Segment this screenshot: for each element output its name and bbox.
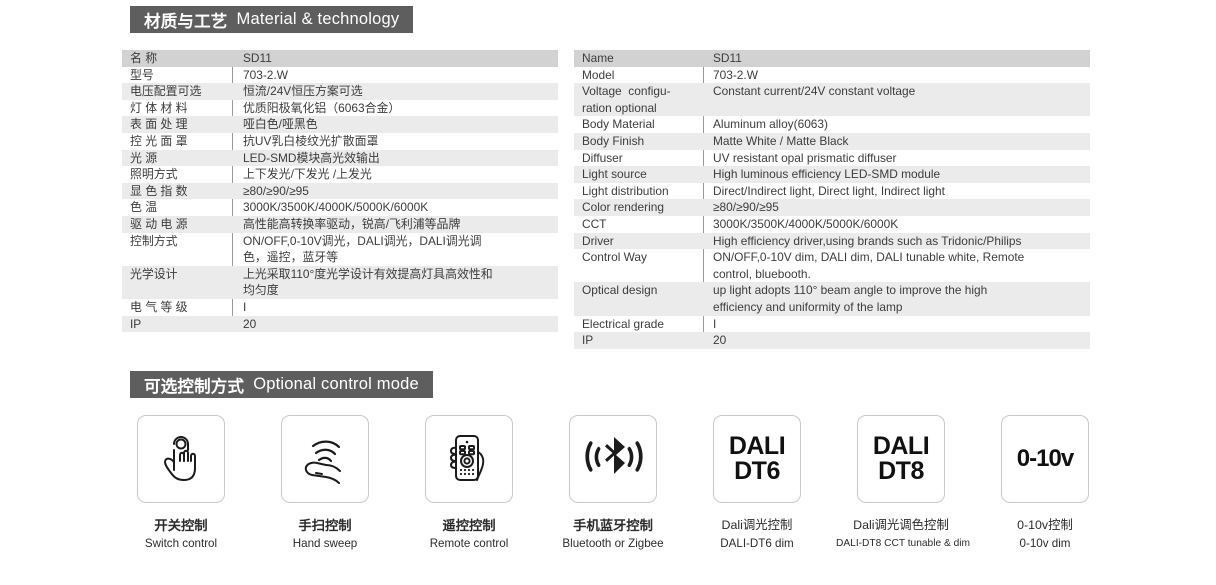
table-row: 显 色 指 数≥80/≥90/≥95 (122, 183, 558, 200)
table-row-value: High luminous efficiency LED-SMD module (703, 166, 1090, 183)
dali-label-line2: DT8 (873, 459, 929, 485)
table-row: 表 面 处 理哑白色/哑黑色 (122, 116, 558, 133)
dali-dt8-icon: DALIDT8 (857, 415, 945, 503)
bluetooth-signal-icon (569, 415, 657, 503)
control-mode-label-cn: Dali调光控制 (692, 516, 822, 535)
table-row-label: Light source (574, 166, 703, 183)
table-row-value: Direct/Indirect light, Direct light, Ind… (703, 183, 1090, 200)
table-row-value: I (232, 299, 558, 316)
table-row-label: 照明方式 (122, 166, 232, 183)
control-mode-card-text: 手扫控制Hand sweep (260, 516, 390, 553)
table-row: 照明方式上下发光/下发光 /上发光 (122, 166, 558, 183)
spec-table-chinese: 名 称SD11型号703-2.W电压配置可选恒流/24V恒压方案可选灯 体 材 … (122, 50, 558, 332)
table-row: 色 温3000K/3500K/4000K/5000K/6000K (122, 199, 558, 216)
section-header-material-cn: 材质与工艺 (144, 8, 228, 32)
table-row-label: Optical design (574, 282, 703, 299)
control-mode-label-cn: Dali调光调色控制 (836, 516, 966, 535)
table-row-value: 20 (703, 332, 1090, 349)
table-row: Light sourceHigh luminous efficiency LED… (574, 166, 1090, 183)
control-mode-card-dali-dt6[interactable]: DALIDT6Dali调光控制DALI-DT6 dim (706, 415, 808, 553)
control-mode-label-en: Switch control (116, 535, 246, 553)
control-mode-label-en: DALI-DT6 dim (692, 535, 822, 553)
table-row-value: 3000K/3500K/4000K/5000K/6000K (703, 216, 1090, 233)
table-row-value: Matte White / Matte Black (703, 133, 1090, 150)
table-row: Optical designup light adopts 110° beam … (574, 282, 1090, 315)
table-row-label: 电 气 等 级 (122, 299, 232, 316)
control-mode-card-text: 手机蓝牙控制Bluetooth or Zigbee (548, 516, 678, 553)
zero-ten-volt-icon: 0-10v (1001, 415, 1089, 503)
table-row-value: SD11 (232, 50, 558, 67)
table-row-value: UV resistant opal prismatic diffuser (703, 150, 1090, 167)
table-row-label: 控 光 面 罩 (122, 133, 232, 150)
control-mode-card-text: Dali调光调色控制DALI-DT8 CCT tunable & dim (836, 516, 966, 553)
control-mode-label-cn: 开关控制 (116, 516, 246, 535)
zero-ten-volt-label: 0-10v (1017, 445, 1073, 473)
table-row: Body FinishMatte White / Matte Black (574, 133, 1090, 150)
table-row: CCT3000K/3500K/4000K/5000K/6000K (574, 216, 1090, 233)
dali-label-line1: DALI (873, 434, 929, 460)
table-row-value: 上光采取110°度光学设计有效提高灯具高效性和 均匀度 (232, 266, 558, 299)
table-row-value: 抗UV乳白棱纹光扩散面罩 (232, 133, 558, 150)
table-row-label: 型号 (122, 67, 232, 84)
table-row: NameSD11 (574, 50, 1090, 67)
table-row-label: 光学设计 (122, 266, 232, 283)
table-row-value: Aluminum alloy(6063) (703, 116, 1090, 133)
table-row: 控 光 面 罩抗UV乳白棱纹光扩散面罩 (122, 133, 558, 150)
table-row-label: Color rendering (574, 199, 703, 216)
table-row: 控制方式ON/OFF,0-10V调光，DALI调光，DALI调光调 色，遥控，蓝… (122, 233, 558, 266)
table-row-value: Constant current/24V constant voltage (703, 83, 1090, 100)
table-row-label: 电压配置可选 (122, 83, 232, 100)
control-mode-label-cn: 手扫控制 (260, 516, 390, 535)
control-mode-label-en: Hand sweep (260, 535, 390, 553)
table-row-value: High efficiency driver,using brands such… (703, 233, 1090, 250)
table-row-value: 703-2.W (232, 67, 558, 84)
table-row: Body MaterialAluminum alloy(6063) (574, 116, 1090, 133)
section-header-control-mode: 可选控制方式 Optional control mode (130, 371, 433, 398)
dali-dt6-icon: DALIDT6 (713, 415, 801, 503)
control-mode-label-en: 0-10v dim (980, 535, 1110, 553)
table-row-value: 703-2.W (703, 67, 1090, 84)
table-row: 光学设计上光采取110°度光学设计有效提高灯具高效性和 均匀度 (122, 266, 558, 299)
control-mode-card-dali-dt8[interactable]: DALIDT8Dali调光调色控制DALI-DT8 CCT tunable & … (850, 415, 952, 553)
table-row-value: 优质阳极氧化铝（6063合金） (232, 100, 558, 117)
table-row-label: 表 面 处 理 (122, 116, 232, 133)
spec-table-english: NameSD11Model703-2.WVoltage configu- rat… (574, 50, 1090, 349)
table-row-value: 3000K/3500K/4000K/5000K/6000K (232, 199, 558, 216)
control-mode-card-text: 0-10v控制0-10v dim (980, 516, 1110, 553)
table-row: 电压配置可选恒流/24V恒压方案可选 (122, 83, 558, 100)
table-row: Voltage configu- ration optionalConstant… (574, 83, 1090, 116)
control-mode-label-en: Bluetooth or Zigbee (548, 535, 678, 553)
table-row: Control WayON/OFF,0-10V dim, DALI dim, D… (574, 249, 1090, 282)
table-row: Light distributionDirect/Indirect light,… (574, 183, 1090, 200)
table-row: Color rendering≥80/≥90/≥95 (574, 199, 1090, 216)
table-row: 光 源LED-SMD模块高光效输出 (122, 150, 558, 167)
control-mode-card-remote-control[interactable]: 遥控控制Remote control (418, 415, 520, 553)
table-row-value: ON/OFF,0-10V dim, DALI dim, DALI tunable… (703, 249, 1090, 282)
table-row: 名 称SD11 (122, 50, 558, 67)
table-row-value: ON/OFF,0-10V调光，DALI调光，DALI调光调 色，遥控，蓝牙等 (232, 233, 558, 266)
table-row-label: Driver (574, 233, 703, 250)
section-header-control-en: Optional control mode (253, 375, 419, 394)
table-row: 型号703-2.W (122, 67, 558, 84)
table-row: DriverHigh efficiency driver,using brand… (574, 233, 1090, 250)
control-mode-card-hand-sweep[interactable]: 手扫控制Hand sweep (274, 415, 376, 553)
table-row-label: Body Material (574, 116, 703, 133)
table-row-label: 灯 体 材 料 (122, 100, 232, 117)
section-header-material: 材质与工艺 Material & technology (130, 6, 413, 33)
table-row-value: ≥80/≥90/≥95 (232, 183, 558, 200)
table-row-label: Diffuser (574, 150, 703, 167)
table-row-value: I (703, 316, 1090, 333)
table-row: 电 气 等 级I (122, 299, 558, 316)
control-mode-card-hand-press[interactable]: 开关控制Switch control (130, 415, 232, 553)
control-mode-label-en: Remote control (404, 535, 534, 553)
table-row-label: Name (574, 50, 703, 67)
table-row-label: 驱 动 电 源 (122, 216, 232, 233)
table-row-label: 显 色 指 数 (122, 183, 232, 200)
table-row: DiffuserUV resistant opal prismatic diff… (574, 150, 1090, 167)
table-row-label: Model (574, 67, 703, 84)
table-row-value: 高性能高转换率驱动，锐高/飞利浦等品牌 (232, 216, 558, 233)
table-row-label: Electrical grade (574, 316, 703, 333)
control-mode-card-text: 遥控控制Remote control (404, 516, 534, 553)
table-row-value: 恒流/24V恒压方案可选 (232, 83, 558, 100)
table-row-label: 光 源 (122, 150, 232, 167)
control-mode-card-text: 开关控制Switch control (116, 516, 246, 553)
section-header-material-en: Material & technology (237, 10, 400, 29)
table-row: IP20 (574, 332, 1090, 349)
table-row-value: SD11 (703, 50, 1090, 67)
table-row: 灯 体 材 料优质阳极氧化铝（6063合金） (122, 100, 558, 117)
control-mode-label-cn: 手机蓝牙控制 (548, 516, 678, 535)
table-row: Model703-2.W (574, 67, 1090, 84)
table-row-label: IP (574, 332, 703, 349)
table-row: 驱 动 电 源高性能高转换率驱动，锐高/飞利浦等品牌 (122, 216, 558, 233)
table-row-value: 上下发光/下发光 /上发光 (232, 166, 558, 183)
control-mode-card-zero-ten-volt[interactable]: 0-10v0-10v控制0-10v dim (994, 415, 1096, 553)
control-mode-card-list: 开关控制Switch control 手扫控制Hand sweep (130, 415, 1096, 553)
control-mode-card-bluetooth-signal[interactable]: 手机蓝牙控制Bluetooth or Zigbee (562, 415, 664, 553)
table-row: IP20 (122, 316, 558, 333)
table-row-value: LED-SMD模块高光效输出 (232, 150, 558, 167)
table-row-label: IP (122, 316, 232, 333)
table-row-label: Control Way (574, 249, 703, 266)
control-mode-label-cn: 0-10v控制 (980, 516, 1110, 535)
table-row-value: 哑白色/哑黑色 (232, 116, 558, 133)
table-row-label: Voltage configu- ration optional (574, 83, 703, 116)
control-mode-card-text: Dali调光控制DALI-DT6 dim (692, 516, 822, 553)
hand-sweep-icon (281, 415, 369, 503)
dali-label-line2: DT6 (729, 459, 785, 485)
control-mode-label-en: DALI-DT8 CCT tunable & dim (836, 535, 966, 553)
hand-press-icon (137, 415, 225, 503)
table-row-label: Light distribution (574, 183, 703, 200)
table-row-value: ≥80/≥90/≥95 (703, 199, 1090, 216)
table-row-label: 名 称 (122, 50, 232, 67)
table-row-label: CCT (574, 216, 703, 233)
section-header-control-cn: 可选控制方式 (144, 373, 244, 397)
remote-control-icon (425, 415, 513, 503)
table-row-label: Body Finish (574, 133, 703, 150)
dali-label-line1: DALI (729, 434, 785, 460)
control-mode-label-cn: 遥控控制 (404, 516, 534, 535)
table-row-label: 控制方式 (122, 233, 232, 250)
table-row-value: up light adopts 110° beam angle to impro… (703, 282, 1090, 315)
table-row-label: 色 温 (122, 199, 232, 216)
table-row: Electrical gradeI (574, 316, 1090, 333)
table-row-value: 20 (232, 316, 558, 333)
